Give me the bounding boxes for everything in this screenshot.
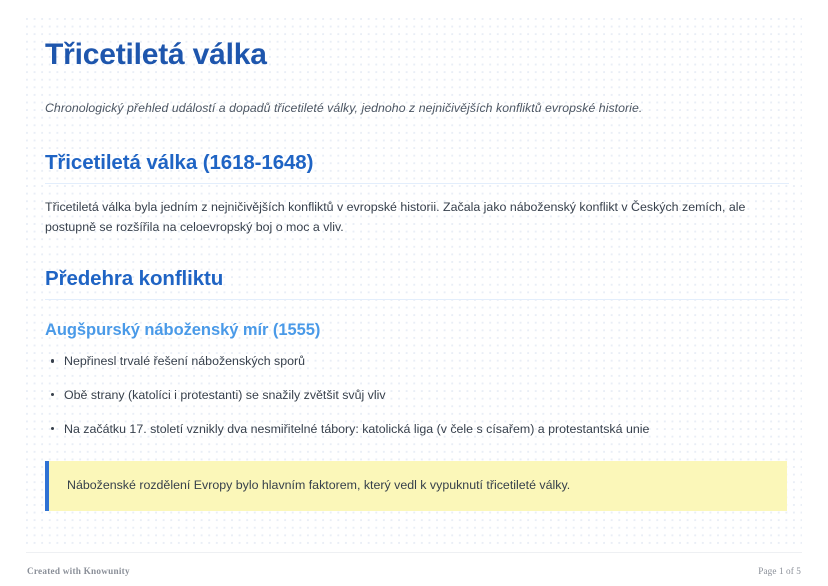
list-item: Na začátku 17. století vznikly dva nesmi… [45, 420, 789, 439]
footer-divider [26, 552, 802, 553]
section-heading-prelude: Předehra konfliktu [45, 267, 789, 300]
callout-text: Náboženské rozdělení Evropy bylo hlavním… [67, 476, 769, 495]
page-subtitle: Chronologický přehled událostí a dopadů … [45, 72, 789, 118]
list-item: Nepřinesl trvalé řešení náboženských spo… [45, 352, 789, 371]
footer-brand-label: Created with Knowunity [27, 566, 130, 576]
highlight-callout-box: Náboženské rozdělení Evropy bylo hlavním… [45, 461, 787, 511]
page-footer: Created with Knowunity Page 1 of 5 [0, 552, 828, 586]
document-content: Třicetiletá válka Chronologický přehled … [45, 18, 789, 511]
list-item: Obě strany (katolíci i protestanti) se s… [45, 386, 789, 405]
prelude-bullet-list: Nepřinesl trvalé řešení náboženských spo… [45, 340, 789, 438]
section-paragraph-war: Třicetiletá válka byla jedním z nejničiv… [45, 184, 761, 237]
subsection-heading-augsburg-peace: Augšpurský náboženský mír (1555) [45, 300, 789, 341]
page-title: Třicetiletá válka [45, 18, 789, 72]
section-heading-war: Třicetiletá válka (1618-1648) [45, 151, 789, 184]
footer-page-number: Page 1 of 5 [758, 566, 801, 576]
